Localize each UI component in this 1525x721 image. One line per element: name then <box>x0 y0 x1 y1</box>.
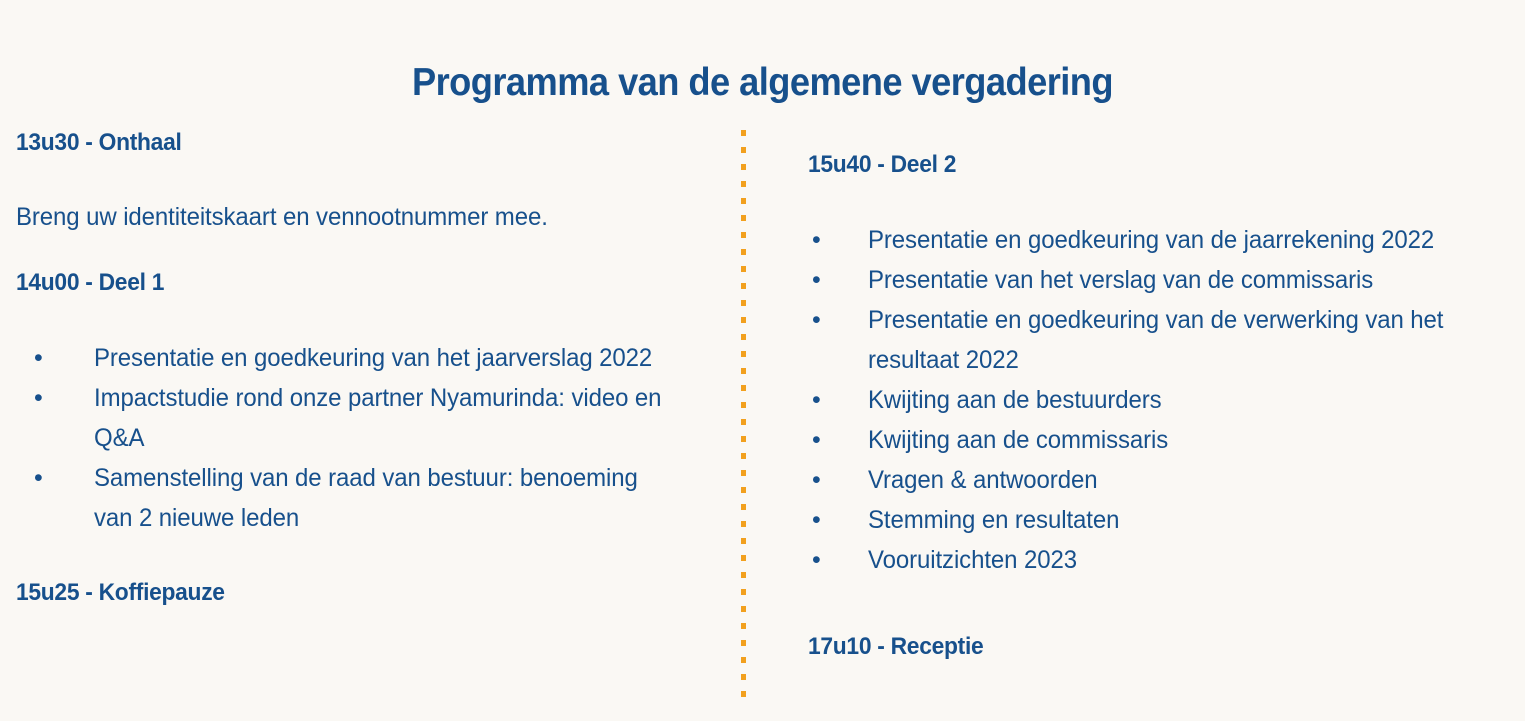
list-item: • Kwijting aan de bestuurders <box>808 380 1520 420</box>
bullet-icon: • <box>812 540 821 580</box>
slot-heading-receptie: 17u10 - Receptie <box>808 632 1484 662</box>
bullet-icon: • <box>812 460 821 500</box>
spacer <box>16 158 696 198</box>
bullet-icon: • <box>812 420 821 460</box>
page-title: Programma van de algemene vergadering <box>53 62 1471 105</box>
list-item-label: Kwijting aan de commissaris <box>868 420 1168 460</box>
list-item-label: Stemming en resultaten <box>868 500 1119 540</box>
list-item-label: Vragen & antwoorden <box>868 460 1097 500</box>
agenda-slide: Programma van de algemene vergadering 13… <box>0 0 1525 721</box>
list-item-label: Vooruitzichten 2023 <box>868 540 1077 580</box>
bullet-icon: • <box>34 338 43 378</box>
list-item-label: Impactstudie rond onze partner Nyamurind… <box>94 378 672 458</box>
list-item: • Stemming en resultaten <box>808 500 1520 540</box>
bullet-icon: • <box>34 378 43 418</box>
bullet-icon: • <box>812 500 821 540</box>
list-item-label: Presentatie en goedkeuring van het jaarv… <box>94 338 652 378</box>
list-item: • Vooruitzichten 2023 <box>808 540 1520 580</box>
bullet-icon: • <box>812 260 821 300</box>
list-item: • Presentatie en goedkeuring van de jaar… <box>808 220 1520 260</box>
spacer <box>808 128 1520 150</box>
bullet-icon: • <box>34 458 43 498</box>
slot-heading-onthaal: 13u30 - Onthaal <box>16 128 662 158</box>
list-item-label: Kwijting aan de bestuurders <box>868 380 1162 420</box>
agenda-column-left: 13u30 - Onthaal Breng uw identiteitskaar… <box>16 128 696 608</box>
bullet-list-deel-2: • Presentatie en goedkeuring van de jaar… <box>808 220 1520 580</box>
spacer <box>16 538 696 578</box>
slot-heading-deel-2: 15u40 - Deel 2 <box>808 150 1484 180</box>
list-item-label: Presentatie en goedkeuring van de jaarre… <box>868 220 1434 260</box>
list-item: • Presentatie van het verslag van de com… <box>808 260 1520 300</box>
bullet-icon: • <box>812 380 821 420</box>
list-item: • Vragen & antwoorden <box>808 460 1520 500</box>
list-item: • Presentatie en goedkeuring van het jaa… <box>16 338 696 378</box>
spacer <box>16 298 696 338</box>
spacer <box>808 580 1520 632</box>
list-item: • Impactstudie rond onze partner Nyamuri… <box>16 378 696 458</box>
list-item-label: Presentatie en goedkeuring van de verwer… <box>868 300 1494 380</box>
slot-heading-koffiepauze: 15u25 - Koffiepauze <box>16 578 662 608</box>
bullet-icon: • <box>812 300 821 340</box>
slot-text-onthaal: Breng uw identiteitskaart en vennootnumm… <box>16 198 669 238</box>
spacer <box>16 238 696 268</box>
list-item-label: Samenstelling van de raad van bestuur: b… <box>94 458 672 538</box>
list-item: • Kwijting aan de commissaris <box>808 420 1520 460</box>
slot-heading-deel-1: 14u00 - Deel 1 <box>16 268 662 298</box>
agenda-columns: 13u30 - Onthaal Breng uw identiteitskaar… <box>0 128 1525 703</box>
spacer <box>808 180 1520 220</box>
list-item: • Samenstelling van de raad van bestuur:… <box>16 458 696 538</box>
list-item: • Presentatie en goedkeuring van de verw… <box>808 300 1520 380</box>
agenda-column-right: 15u40 - Deel 2 • Presentatie en goedkeur… <box>808 128 1520 662</box>
list-item-label: Presentatie van het verslag van de commi… <box>868 260 1373 300</box>
bullet-list-deel-1: • Presentatie en goedkeuring van het jaa… <box>16 338 696 538</box>
bullet-icon: • <box>812 220 821 260</box>
